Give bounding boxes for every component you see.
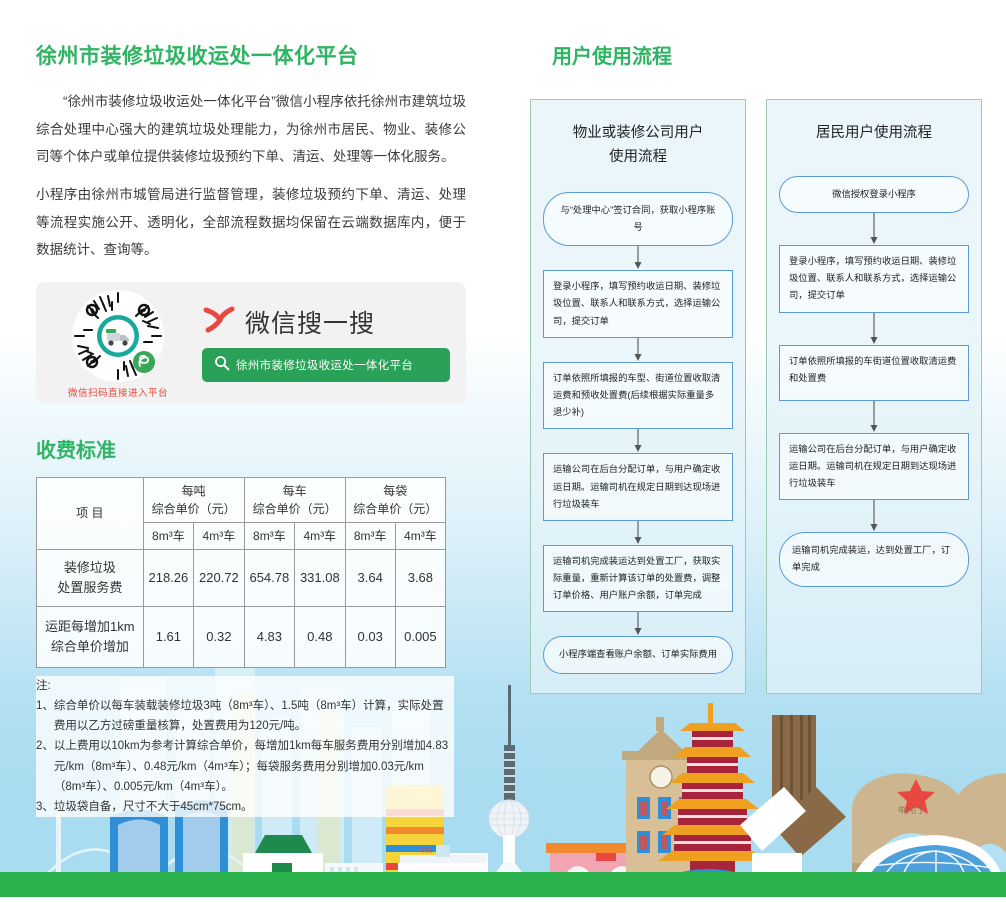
page-title: 徐州市装修垃圾收运处一体化平台 (36, 40, 466, 70)
subheader-cell: 4m³车 (295, 523, 345, 550)
flow-node-process: 运输公司在后台分配订单，与用户确定收运日期。运输司机在规定日期到达现场进行垃圾装… (779, 433, 969, 501)
row-label-line-1: 运距每增加1km (45, 619, 135, 634)
row-label-line-1: 装修垃圾 (64, 560, 116, 575)
group-price-label: 综合单价（元） (253, 502, 337, 516)
note-item: 2、 以上费用以10km为参考计算综合单价，每增加1km每车服务费用分别增加4.… (36, 736, 454, 796)
wechat-search-brand-text: 微信搜一搜 (245, 304, 375, 340)
flow-node-process: 订单依照所填报的车型、街道位置收取清运费和预收处置费(后续根据实际重量多退少补) (543, 362, 733, 430)
row-label: 装修垃圾 处置服务费 (37, 550, 144, 607)
svg-text:中兴: 中兴 (420, 847, 432, 855)
note-number: 3、 (36, 797, 54, 817)
note-number: 2、 (36, 736, 54, 796)
subheader-cell: 4m³车 (395, 523, 445, 550)
subheader-cell: 4m³车 (194, 523, 244, 550)
flow-node-terminal-end: 小程序端查看账户余额、订单实际费用 (543, 636, 733, 673)
flow-node-terminal-end: 运输司机完成装运，达到处置工厂，订单完成 (779, 532, 969, 586)
subheader-cell: 8m³车 (345, 523, 395, 550)
table-cell: 3.68 (395, 550, 445, 607)
group-unit-label: 每袋 (383, 484, 407, 498)
wechat-search-logo-icon (202, 305, 236, 340)
note-text: 综合单价以每车装载装修垃圾3吨（8m³车）、1.5吨（8m³车）计算，实际处置费… (54, 696, 454, 736)
table-header-group-ton: 每吨 综合单价（元） (143, 478, 244, 523)
table-cell: 654.78 (244, 550, 294, 607)
flow-panel-resident: 居民用户使用流程 微信授权登录小程序 登录小程序，填写预约收运日期、装修垃圾位置… (766, 99, 982, 694)
group-price-label: 综合单价（元） (152, 502, 236, 516)
fee-standard-title: 收费标准 (36, 434, 466, 463)
flow-node-process: 登录小程序，填写预约收运日期、装修垃圾位置、联系人和联系方式，选择运输公司，提交… (779, 245, 969, 313)
flow-arrow-icon (779, 500, 969, 532)
search-icon (214, 355, 230, 376)
flow-panel-heading: 物业或装修公司用户 使用流程 (543, 122, 733, 170)
row-label: 运距每增加1km 综合单价增加 (37, 607, 144, 668)
flow-arrow-icon (543, 612, 733, 636)
table-cell: 1.61 (143, 607, 193, 668)
table-row: 装修垃圾 处置服务费 218.26 220.72 654.78 331.08 3… (37, 550, 446, 607)
flow-panel-company: 物业或装修公司用户 使用流程 与“处理中心”签订合同，获取小程序账号 登录小程序… (530, 99, 746, 694)
note-text: 垃圾袋自备，尺寸不大于45cm*75cm。 (54, 797, 454, 817)
row-label-line-2: 综合单价增加 (51, 639, 129, 654)
table-cell: 331.08 (295, 550, 345, 607)
flow-arrow-icon (543, 246, 733, 270)
qr-caption: 微信扫码直接进入平台 (68, 385, 168, 399)
wechat-search-brand: 微信搜一搜 (202, 304, 454, 340)
table-cell: 3.64 (345, 550, 395, 607)
table-cell: 0.32 (194, 607, 244, 668)
group-unit-label: 每车 (283, 484, 307, 498)
flow-arrow-icon (779, 401, 969, 433)
fee-table: 项 目 每吨 综合单价（元） 每车 综合单价（元） 每袋 综合单价（元） 8m³… (36, 477, 446, 668)
left-column: 徐州市装修垃圾收运处一体化平台 “徐州市装修垃圾收运处一体化平台”微信小程序依托… (36, 40, 466, 817)
table-cell: 0.48 (295, 607, 345, 668)
flow-node-process: 运输司机完成装运达到处置工厂，获取实际重量，重新计算该订单的处置费，调整订单价格… (543, 545, 733, 613)
flow-arrow-icon (543, 429, 733, 453)
flow-arrow-icon (543, 338, 733, 362)
table-cell: 0.005 (395, 607, 445, 668)
flow-node-terminal-start: 微信授权登录小程序 (779, 176, 969, 213)
table-header-group-bag: 每袋 综合单价（元） (345, 478, 445, 523)
flow-arrow-icon (779, 213, 969, 245)
table-header-row-1: 项 目 每吨 综合单价（元） 每车 综合单价（元） 每袋 综合单价（元） (37, 478, 446, 523)
table-cell: 0.03 (345, 607, 395, 668)
wechat-miniprogram-qr-icon[interactable] (70, 288, 166, 384)
table-cell: 220.72 (194, 550, 244, 607)
flow-arrow-icon (543, 521, 733, 545)
flow-arrow-icon (779, 313, 969, 345)
table-cell: 218.26 (143, 550, 193, 607)
subheader-cell: 8m³车 (143, 523, 193, 550)
group-unit-label: 每吨 (182, 484, 206, 498)
flow-node-process: 运输公司在后台分配订单，与用户确定收运日期。运输司机在规定日期到达现场进行垃圾装… (543, 453, 733, 521)
wechat-search-block: 微信搜一搜 徐州市装修垃圾收运处一体化平台 (188, 304, 454, 382)
flow-node-terminal-start: 与“处理中心”签订合同，获取小程序账号 (543, 192, 733, 246)
table-header-item: 项 目 (37, 478, 144, 550)
flow-panel-heading-line-2: 使用流程 (609, 149, 667, 165)
flow-panels: 物业或装修公司用户 使用流程 与“处理中心”签订合同，获取小程序账号 登录小程序… (530, 99, 982, 694)
search-input-value: 徐州市装修垃圾收运处一体化平台 (236, 357, 413, 373)
wechat-entry-panel: 微信扫码直接进入平台 微信搜一搜 (36, 282, 466, 404)
subheader-cell: 8m³车 (244, 523, 294, 550)
grass-strip (0, 872, 1006, 897)
flow-panel-heading: 居民用户使用流程 (779, 122, 969, 146)
table-cell: 4.83 (244, 607, 294, 668)
flow-node-process: 登录小程序，填写预约收运日期、装修垃圾位置、联系人和联系方式，选择运输公司，提交… (543, 270, 733, 338)
svg-text:中兴门: 中兴门 (898, 805, 922, 815)
group-price-label: 综合单价（元） (353, 502, 437, 516)
table-row: 运距每增加1km 综合单价增加 1.61 0.32 4.83 0.48 0.03… (37, 607, 446, 668)
fee-notes: 注: 1、 综合单价以每车装载装修垃圾3吨（8m³车）、1.5吨（8m³车）计算… (36, 676, 454, 817)
flow-section-title: 用户使用流程 (552, 40, 982, 69)
right-column: 用户使用流程 物业或装修公司用户 使用流程 与“处理中心”签订合同，获取小程序账… (530, 40, 982, 694)
flow-panel-heading-line-1: 居民用户使用流程 (816, 125, 932, 141)
note-text: 以上费用以10km为参考计算综合单价，每增加1km每车服务费用分别增加4.83元… (54, 736, 454, 796)
note-item: 3、 垃圾袋自备，尺寸不大于45cm*75cm。 (36, 797, 454, 817)
row-label-line-2: 处置服务费 (57, 580, 122, 595)
intro-paragraph-2: 小程序由徐州市城管局进行监督管理，装修垃圾预约下单、清运、处理等流程实施公开、透… (36, 181, 466, 264)
note-item: 1、 综合单价以每车装载装修垃圾3吨（8m³车）、1.5吨（8m³车）计算，实际… (36, 696, 454, 736)
qr-block: 微信扫码直接进入平台 (48, 288, 188, 399)
intro-paragraph-1: “徐州市装修垃圾收运处一体化平台”微信小程序依托徐州市建筑垃圾综合处理中心强大的… (36, 88, 466, 171)
table-header-group-vehicle: 每车 综合单价（元） (244, 478, 345, 523)
flow-node-process: 订单依照所填报的车街道位置收取清运费和处置费 (779, 345, 969, 401)
note-number: 1、 (36, 696, 54, 736)
notes-title: 注: (36, 676, 454, 696)
flow-panel-heading-line-1: 物业或装修公司用户 (573, 125, 704, 141)
search-input[interactable]: 徐州市装修垃圾收运处一体化平台 (202, 348, 450, 382)
